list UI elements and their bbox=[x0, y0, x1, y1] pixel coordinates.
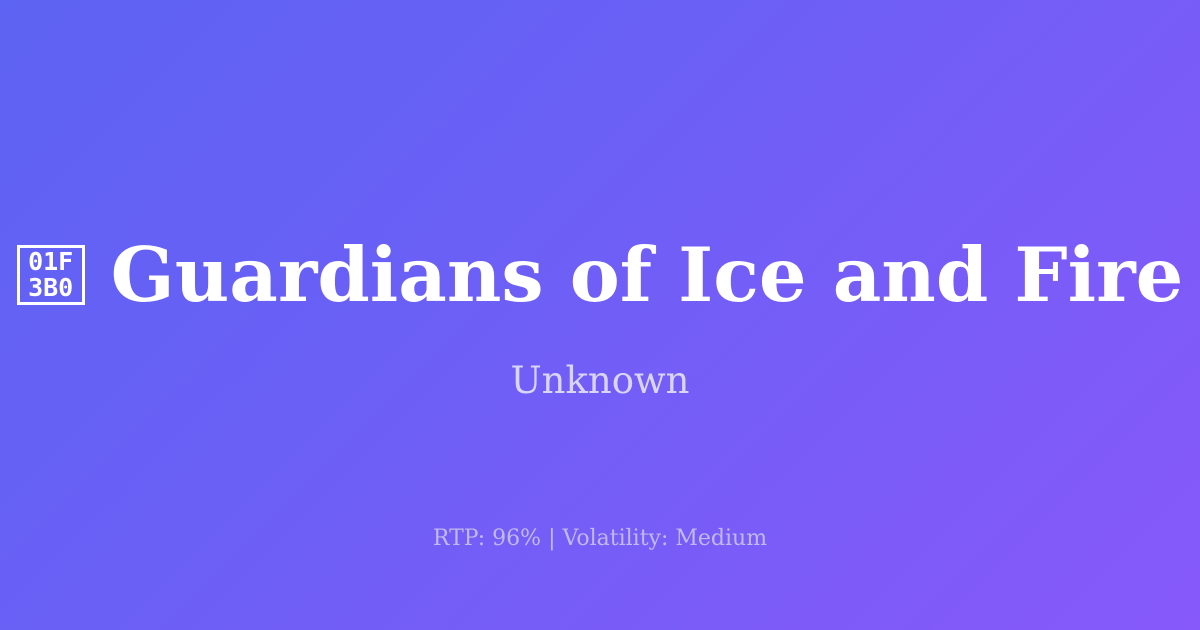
og-card: 01F 3B0 Guardians of Ice and Fire Unknow… bbox=[0, 0, 1200, 630]
page-title: Guardians of Ice and Fire bbox=[111, 238, 1184, 313]
title-row-inner: 01F 3B0 Guardians of Ice and Fire bbox=[17, 238, 1184, 313]
game-meta-line: RTP: 96% | Volatility: Medium bbox=[0, 528, 1200, 550]
page-subtitle: Unknown bbox=[0, 362, 1200, 399]
tofu-codepoint-line-1: 01F bbox=[28, 249, 73, 275]
tofu-codepoint-line-2: 3B0 bbox=[28, 275, 73, 301]
slot-machine-emoji-tofu-icon: 01F 3B0 bbox=[17, 245, 85, 305]
